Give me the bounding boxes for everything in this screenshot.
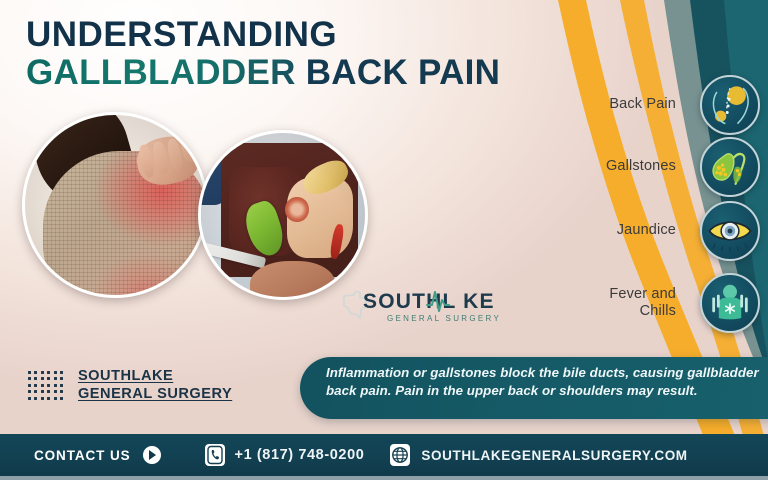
fever-chills-glyph: [702, 273, 758, 333]
page-title: UNDERSTANDING GALLBLADDER BACK PAIN: [26, 16, 586, 92]
title-back-pain: BACK PAIN: [306, 53, 501, 92]
symptom-label: Fever and Chills: [609, 286, 676, 320]
symptom-gallstones[interactable]: Gallstones: [606, 158, 688, 175]
back-pain-photo: [22, 112, 208, 298]
yellow-eye-icon: [700, 201, 760, 261]
back-pain-photo-inner: [25, 115, 205, 295]
brand-block: SOUTHLAKE GENERAL SURGERY: [28, 367, 232, 404]
brand-name: SOUTHLAKE GENERAL SURGERY: [78, 367, 232, 404]
symptom-jaundice[interactable]: Jaundice: [617, 222, 688, 239]
spine-pain-glyph: [702, 75, 758, 135]
website-url[interactable]: SOUTHLAKEGENERALSURGERY.COM: [421, 448, 687, 463]
dot-grid-icon: [28, 371, 63, 400]
globe-icon[interactable]: [390, 444, 410, 466]
photo-vignette: [201, 133, 365, 297]
sage-band: [664, 0, 768, 392]
brand-line-1: SOUTHLAKE: [78, 367, 232, 385]
jaundice-eye-glyph: [702, 201, 758, 261]
symptom-label: Gallstones: [606, 158, 676, 175]
description-text: Inflammation or gallstones block the bil…: [300, 357, 768, 399]
spine-pain-icon: [700, 75, 760, 135]
symptom-back-pain[interactable]: Back Pain: [609, 96, 688, 113]
phone-number[interactable]: +1 (817) 748-0200: [235, 447, 365, 463]
gallstones-glyph: [702, 137, 758, 197]
symptom-fever-chills[interactable]: Fever and Chills: [609, 286, 688, 320]
description-banner: Inflammation or gallstones block the bil…: [300, 357, 768, 419]
title-line-1: UNDERSTANDING: [26, 16, 586, 53]
contact-bar: CONTACT US +1 (817) 748-0200 SOUTHLAKE: [0, 434, 768, 480]
globe-glyph: [390, 444, 410, 466]
brand-line-2: GENERAL SURGERY: [78, 385, 232, 403]
phone-glyph: [205, 444, 225, 466]
person-chills-icon: [700, 273, 760, 333]
symptom-label: Jaundice: [617, 222, 676, 239]
anatomy-photo-inner: [201, 133, 365, 297]
symptom-label: Back Pain: [609, 96, 676, 113]
title-highlight-gallbladder: GALLBLADDER: [26, 53, 296, 92]
arrow-right-icon[interactable]: [143, 446, 161, 464]
phone-icon[interactable]: [205, 444, 225, 466]
logo-subtitle: GENERAL SURGERY: [387, 314, 501, 323]
anatomy-model-photo: [198, 130, 368, 300]
southlake-logo: SOUTHL KE GENERAL SURGERY: [341, 288, 491, 332]
photo-vignette: [25, 115, 205, 295]
title-line-2: GALLBLADDER BACK PAIN: [26, 53, 586, 92]
infographic-canvas: UNDERSTANDING GALLBLADDER BACK PAIN: [0, 0, 768, 480]
contact-us-label: CONTACT US: [34, 448, 131, 463]
arrow-right-glyph: [143, 446, 161, 464]
gallbladder-stones-icon: [700, 137, 760, 197]
ekg-heartbeat-icon: [425, 287, 451, 313]
